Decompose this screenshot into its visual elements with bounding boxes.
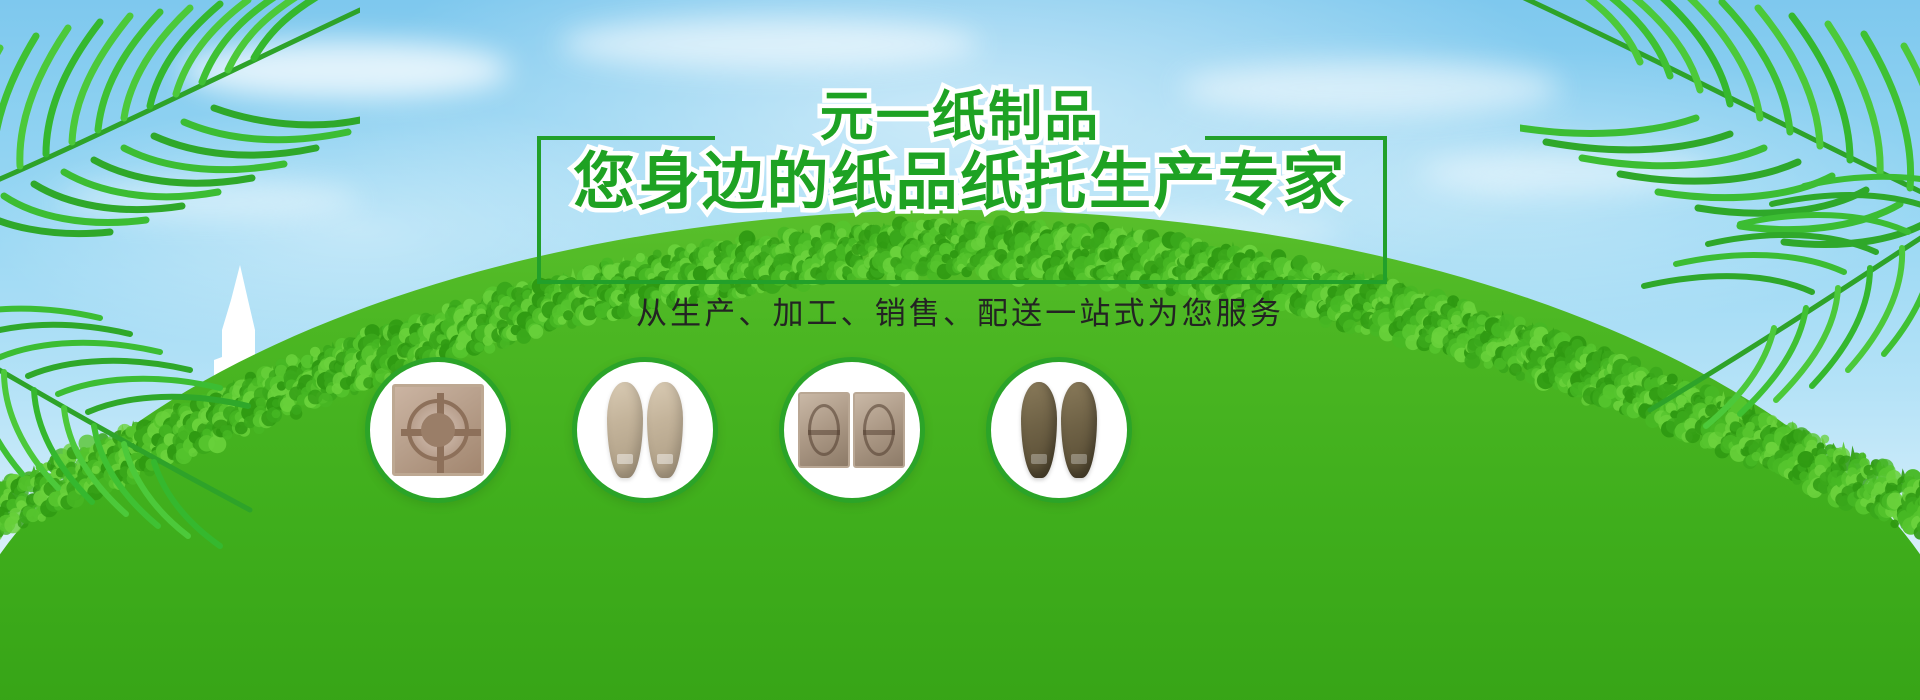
shoe-pair-icon	[1061, 382, 1097, 478]
product-image-4	[1005, 388, 1114, 472]
product-circle-2[interactable]	[572, 357, 718, 503]
decorative-frame-bottom	[537, 280, 1387, 284]
product-image-3	[798, 388, 907, 472]
promotional-banner: 元一纸制品 您身边的纸品纸托生产专家 从生产、加工、销售、配送一站式为您服务	[0, 0, 1920, 700]
headline-line-1: 元一纸制品	[0, 86, 1920, 148]
shoe-pair-icon	[607, 382, 643, 478]
product-circle-3[interactable]	[779, 357, 925, 503]
tray-icon	[392, 384, 484, 476]
palm-frond-icon	[0, 300, 260, 560]
product-image-2	[591, 388, 700, 472]
shoe-pair-icon	[647, 382, 683, 478]
headline-line-2: 您身边的纸品纸托生产专家	[0, 146, 1920, 218]
product-circle-4[interactable]	[986, 357, 1132, 503]
banner-subtitle: 从生产、加工、销售、配送一站式为您服务	[0, 288, 1920, 333]
pack-icon	[798, 392, 905, 468]
product-circle-1[interactable]	[365, 357, 511, 503]
shoe-pair-icon	[1021, 382, 1057, 478]
product-image-1	[384, 388, 493, 472]
